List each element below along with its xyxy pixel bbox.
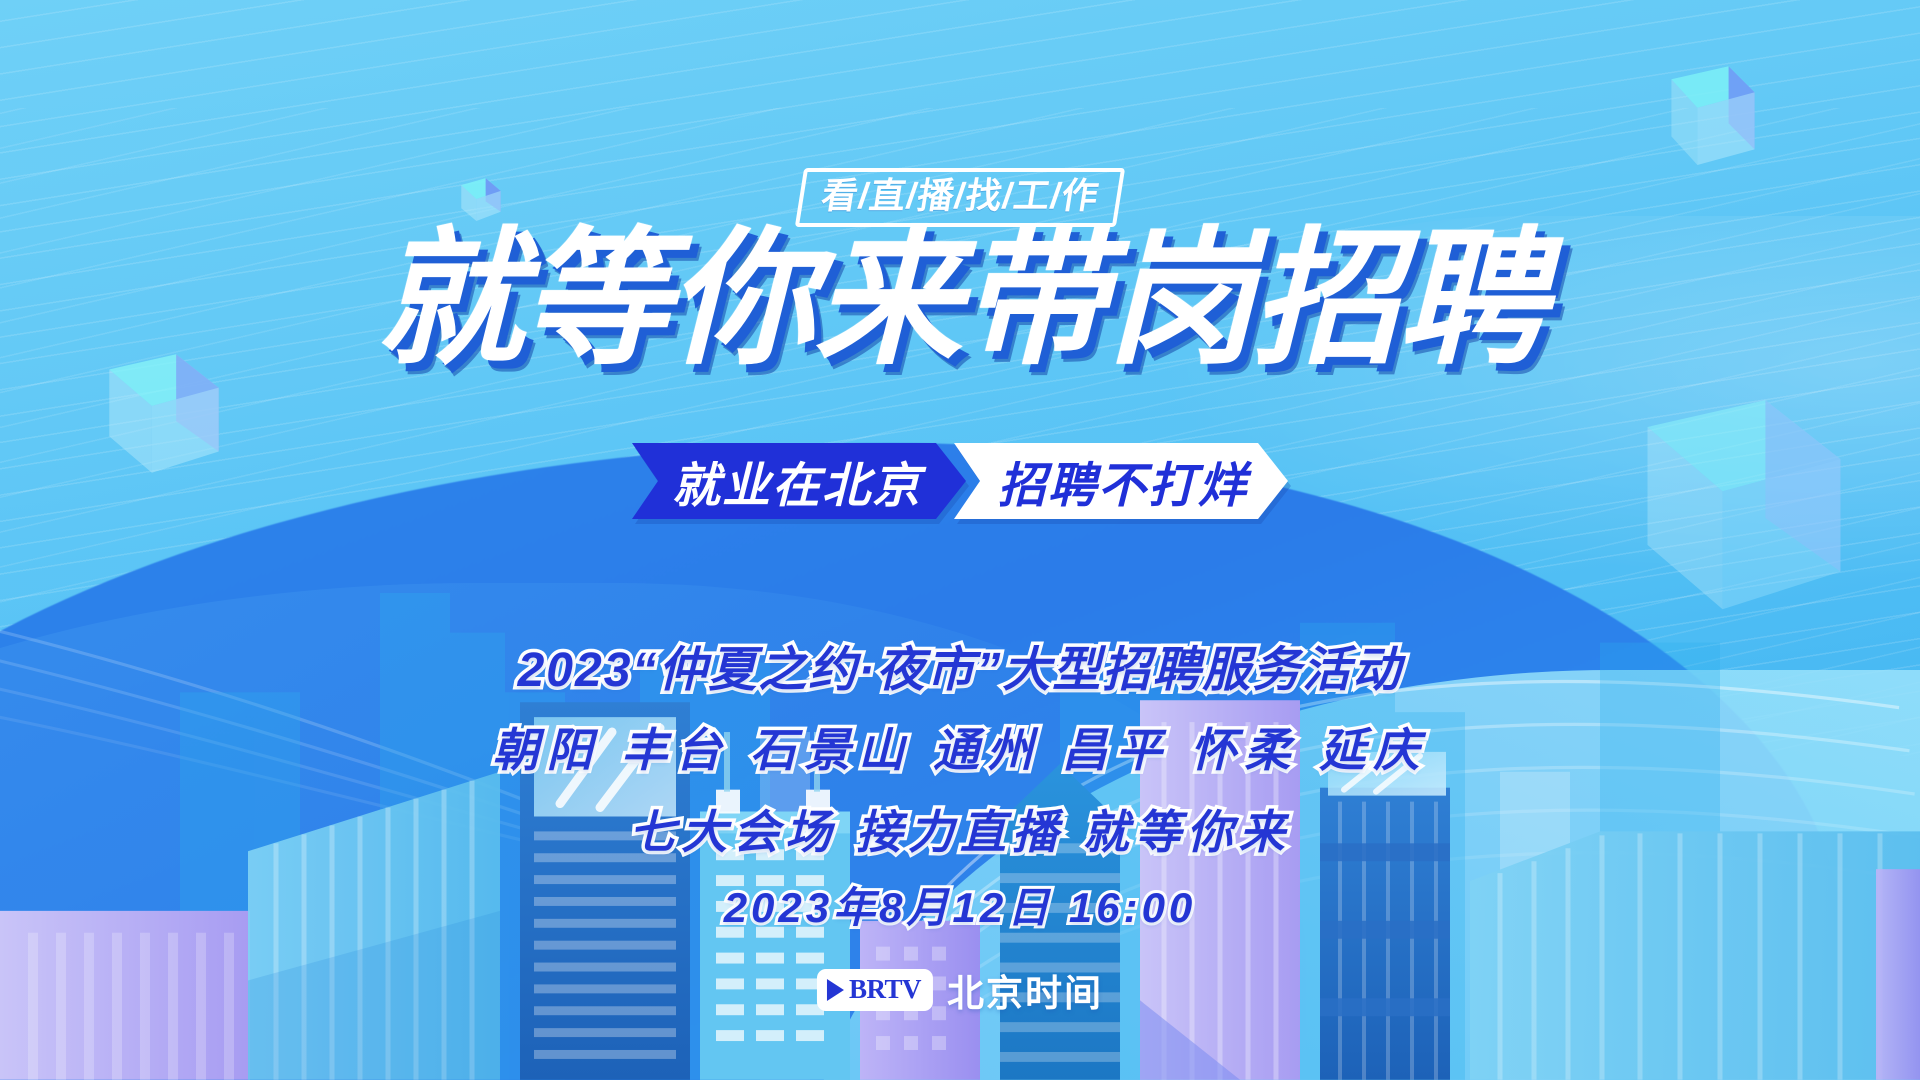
brtv-logo: BRTV 北京时间 <box>817 963 1103 1017</box>
channel-name: 北京时间 <box>947 963 1103 1017</box>
main-headline: 就等你来带岗招聘 <box>376 226 1544 374</box>
subtitle-banner: 就业在北京 招聘不打烊 <box>632 443 1288 519</box>
banner-segment-primary: 就业在北京 <box>632 443 966 519</box>
poster-content: 看/直/播/找/工/作 就等你来带岗招聘 就业在北京 招聘不打烊 2023“仲夏… <box>0 0 1920 1080</box>
tagline-badge-text: 看/直/播/找/工/作 <box>819 177 1102 216</box>
play-triangle-icon <box>827 979 844 1001</box>
districts-line: 朝阳 丰台 石景山 通州 昌平 怀柔 延庆 <box>493 714 1428 780</box>
activity-title-line: 2023“仲夏之约·夜市”大型招聘服务活动 <box>518 630 1403 700</box>
brtv-logo-mark: BRTV <box>817 969 933 1011</box>
poster-canvas: 看/直/播/找/工/作 就等你来带岗招聘 就业在北京 招聘不打烊 2023“仲夏… <box>0 0 1920 1080</box>
datetime-line: 2023年8月12日 16:00 <box>724 874 1197 935</box>
slogan-line: 七大会场 接力直播 就等你来 <box>629 796 1291 862</box>
banner-segment-secondary: 招聘不打烊 <box>954 443 1288 519</box>
brtv-wordmark: BRTV <box>849 974 921 1005</box>
